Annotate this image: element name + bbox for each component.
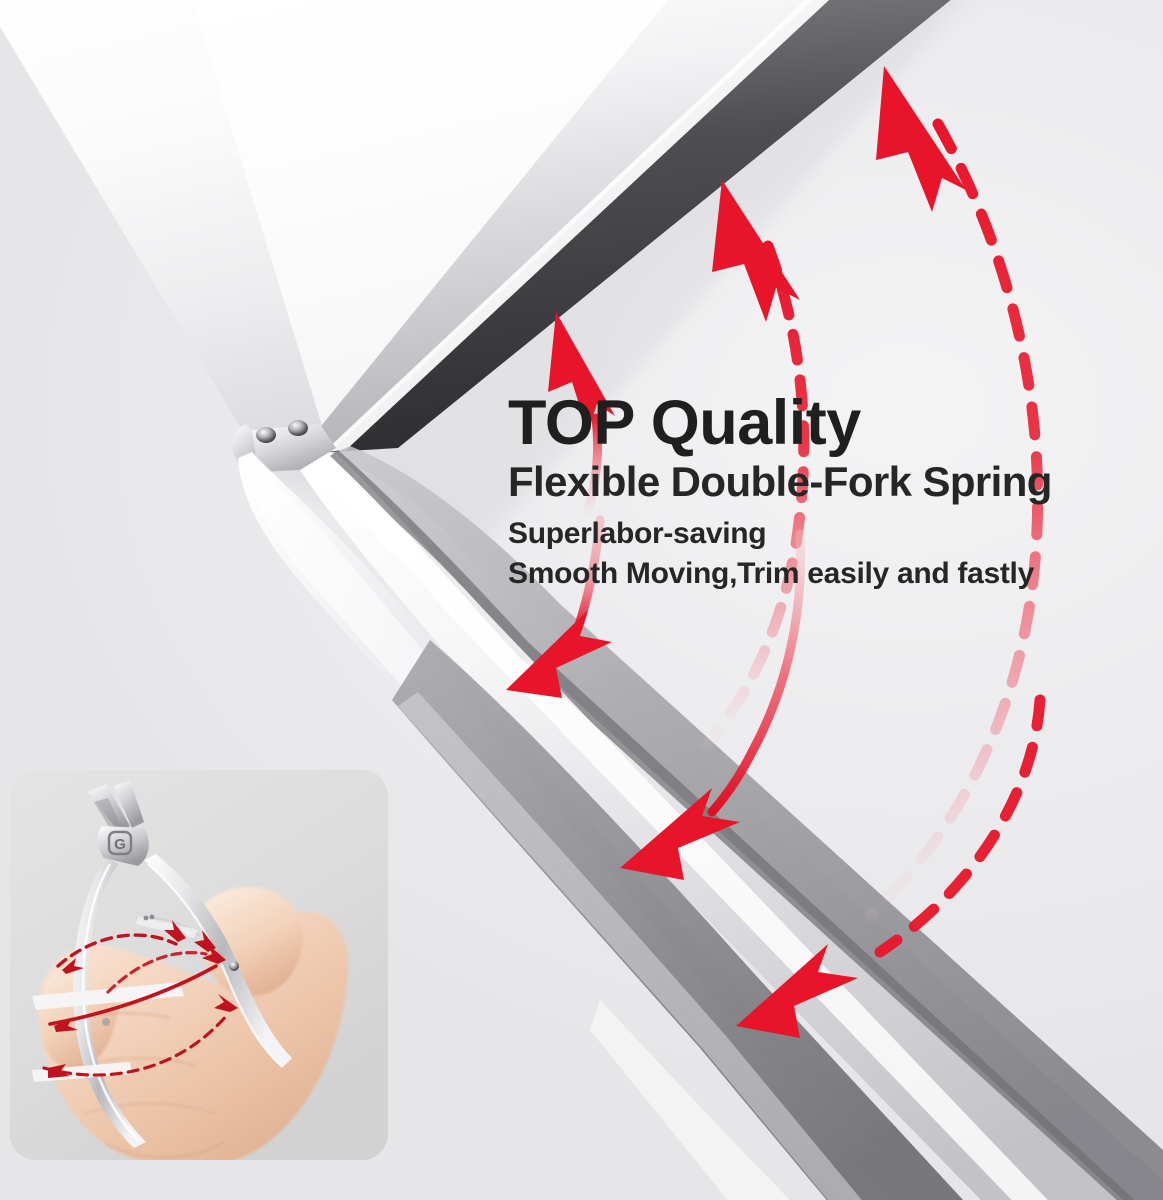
arrow-tail-down-right xyxy=(880,700,1040,952)
benefit-line-2: Smooth Moving,Trim easily and fastly xyxy=(508,554,1118,594)
marketing-copy: TOP Quality Flexible Double-Fork Spring … xyxy=(508,392,1118,594)
inset-illustration: G xyxy=(10,770,388,1160)
arrow-head-down-left xyxy=(506,610,612,698)
arrow-head-up-right xyxy=(876,66,966,212)
benefit-line-1: Superlabor-saving xyxy=(508,514,1118,554)
page-title: TOP Quality xyxy=(508,392,1118,455)
arrow-head-down-right xyxy=(736,944,858,1038)
feature-subtitle: Flexible Double-Fork Spring xyxy=(508,459,1118,504)
brand-mark-letter: G xyxy=(114,836,126,853)
hand-holding-nipper-photo: G xyxy=(10,770,388,1160)
product-banner: TOP Quality Flexible Double-Fork Spring … xyxy=(0,0,1163,1200)
